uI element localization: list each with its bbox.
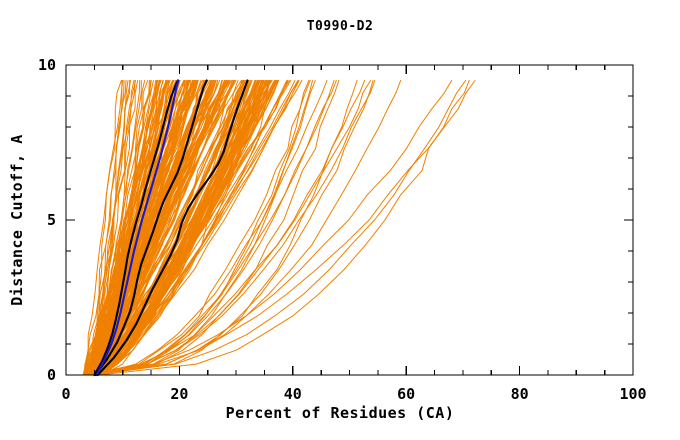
y-axis-title: Distance Cutoff, A [8, 134, 26, 306]
page-title: T0990-D2 [307, 19, 374, 34]
x-tick-label: 100 [619, 385, 646, 403]
x-tick-label: 60 [397, 385, 415, 403]
y-tick-label: 10 [38, 56, 56, 74]
distance-cutoff-plot: T0990-D2 0204060801000510 Percent of Res… [0, 0, 680, 440]
y-tick-label: 5 [47, 211, 56, 229]
x-tick-label: 0 [61, 385, 70, 403]
chart-container: T0990-D2 0204060801000510 Percent of Res… [0, 0, 680, 440]
x-axis-title: Percent of Residues (CA) [226, 404, 455, 422]
x-tick-label: 40 [284, 385, 302, 403]
y-tick-label: 0 [47, 366, 56, 384]
x-tick-label: 20 [170, 385, 188, 403]
x-tick-label: 80 [511, 385, 529, 403]
